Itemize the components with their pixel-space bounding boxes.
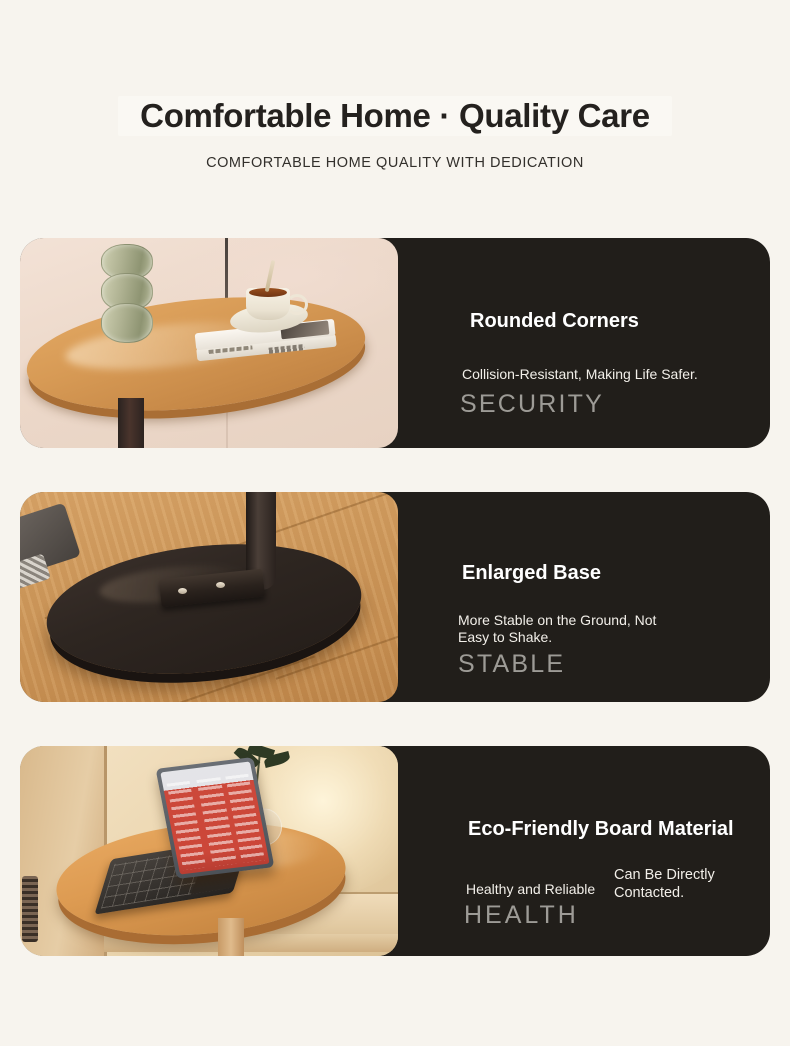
card-description-primary: Healthy and Reliable — [466, 881, 595, 898]
table-leg — [218, 918, 244, 956]
card-text-panel: Enlarged Base More Stable on the Ground,… — [450, 492, 760, 702]
page-title-wrapper: Comfortable Home · Quality Care — [126, 94, 664, 138]
card-heading: Enlarged Base — [462, 562, 601, 585]
tablet-device — [156, 757, 275, 879]
feature-card-enlarged-base[interactable]: Enlarged Base More Stable on the Ground,… — [20, 492, 770, 702]
vase-bulb-bottom — [101, 303, 153, 343]
feature-card-eco-friendly-board[interactable]: Eco-Friendly Board Material Healthy and … — [20, 746, 770, 956]
card-text-panel: Eco-Friendly Board Material Healthy and … — [450, 746, 760, 956]
feature-card-rounded-corners[interactable]: Rounded Corners Collision-Resistant, Mak… — [20, 238, 770, 448]
tablet-screen — [160, 761, 269, 874]
product-photo-tablet-table — [20, 746, 398, 956]
product-photo-base — [20, 492, 398, 702]
card-text-panel: Rounded Corners Collision-Resistant, Mak… — [450, 238, 760, 448]
card-watermark: HEALTH — [464, 901, 579, 930]
wall-baseboard — [104, 934, 398, 952]
page-header: Comfortable Home · Quality Care COMFORTA… — [0, 0, 790, 171]
card-heading: Eco-Friendly Board Material — [468, 818, 734, 841]
card-heading: Rounded Corners — [470, 310, 639, 333]
card-description: Collision-Resistant, Making Life Safer. — [462, 366, 698, 383]
page-subtitle: COMFORTABLE HOME QUALITY WITH DEDICATION — [0, 155, 790, 171]
table-leg — [118, 398, 144, 448]
card-watermark: SECURITY — [460, 390, 604, 419]
screw-head — [216, 582, 225, 588]
card-watermark: STABLE — [458, 650, 565, 679]
product-photo-tabletop — [20, 238, 398, 448]
screw-head — [178, 588, 187, 594]
card-description: More Stable on the Ground, Not Easy to S… — [458, 612, 656, 646]
floor-vent — [22, 876, 38, 942]
glass-vase — [98, 244, 154, 342]
feature-card-list: Rounded Corners Collision-Resistant, Mak… — [20, 238, 770, 1000]
page-title: Comfortable Home · Quality Care — [126, 94, 664, 138]
cup-handle — [286, 294, 308, 315]
card-description-secondary: Can Be Directly Contacted. — [614, 866, 715, 902]
